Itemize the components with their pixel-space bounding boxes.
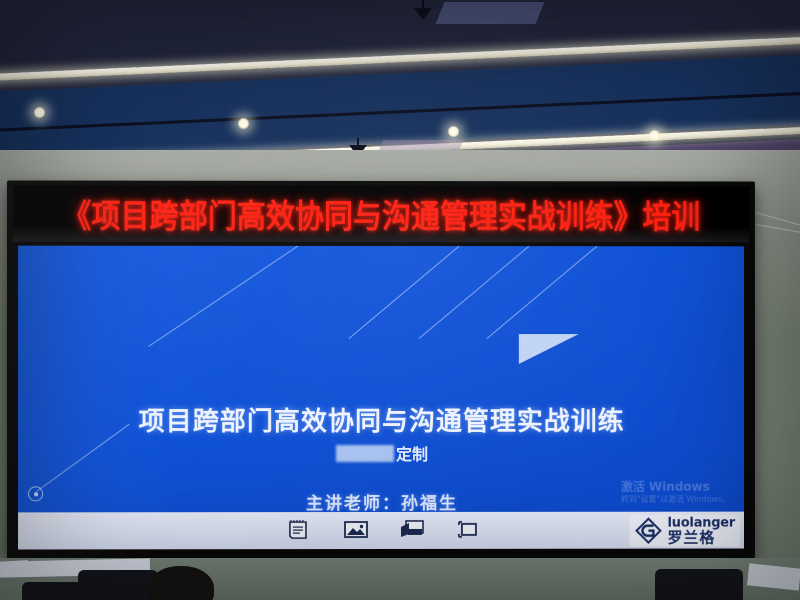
photos-icon[interactable] [343, 518, 367, 540]
person-head [148, 566, 214, 600]
taskbar-icon-group [287, 518, 479, 540]
led-marquee-banner: 《项目跨部门高效协同与沟通管理实战训练》培训 [13, 185, 749, 242]
notepad-icon[interactable] [287, 518, 311, 540]
chair-back-far-left [22, 582, 92, 600]
presentation-slide[interactable]: 项目跨部门高效协同与沟通管理实战训练 定制 主讲老师：孙福生 罗兰格企业管理咨询… [18, 246, 744, 550]
slide-title: 项目跨部门高效协同与沟通管理实战训练 [18, 401, 744, 438]
diamond-logo-icon [635, 517, 663, 545]
ceiling-spotlight [237, 117, 250, 130]
ceiling-spotlight [648, 129, 661, 142]
led-banner-glare [13, 226, 749, 243]
conference-room-scene: 《项目跨部门高效协同与沟通管理实战训练》培训 项目跨部门高效协同与沟通管理实战训… [0, 0, 800, 600]
luolanger-logo: luolanger 罗兰格 [630, 515, 740, 547]
logo-english: luolanger [668, 516, 736, 529]
slide-decor-line [487, 246, 602, 339]
slide-subtitle: 定制 [18, 441, 744, 465]
logo-chinese: 罗兰格 [668, 530, 736, 545]
slide-decor-line [349, 246, 465, 339]
slide-subtitle-suffix: 定制 [396, 441, 428, 465]
slide-decor-line [419, 246, 534, 339]
presentation-icon[interactable] [399, 518, 423, 540]
slide-decor-line [148, 246, 360, 347]
slide-canvas [18, 246, 744, 513]
ceiling-spotlight [33, 106, 46, 119]
chair-back-right [655, 569, 743, 600]
slide-presenter: 主讲老师：孙福生 [18, 489, 744, 515]
windows-taskbar[interactable]: luolanger 罗兰格 [18, 512, 744, 550]
slide-decor-triangle [519, 334, 579, 364]
ceiling-spotlight [447, 125, 460, 138]
display-screen[interactable]: 《项目跨部门高效协同与沟通管理实战训练》培训 项目跨部门高效协同与沟通管理实战训… [7, 180, 755, 559]
task-view-icon[interactable] [455, 518, 479, 540]
logo-text: luolanger 罗兰格 [668, 516, 736, 545]
ceiling-vent-panel-1 [436, 2, 545, 24]
pendant-speaker-1 [414, 8, 432, 20]
redaction-block [336, 444, 394, 461]
